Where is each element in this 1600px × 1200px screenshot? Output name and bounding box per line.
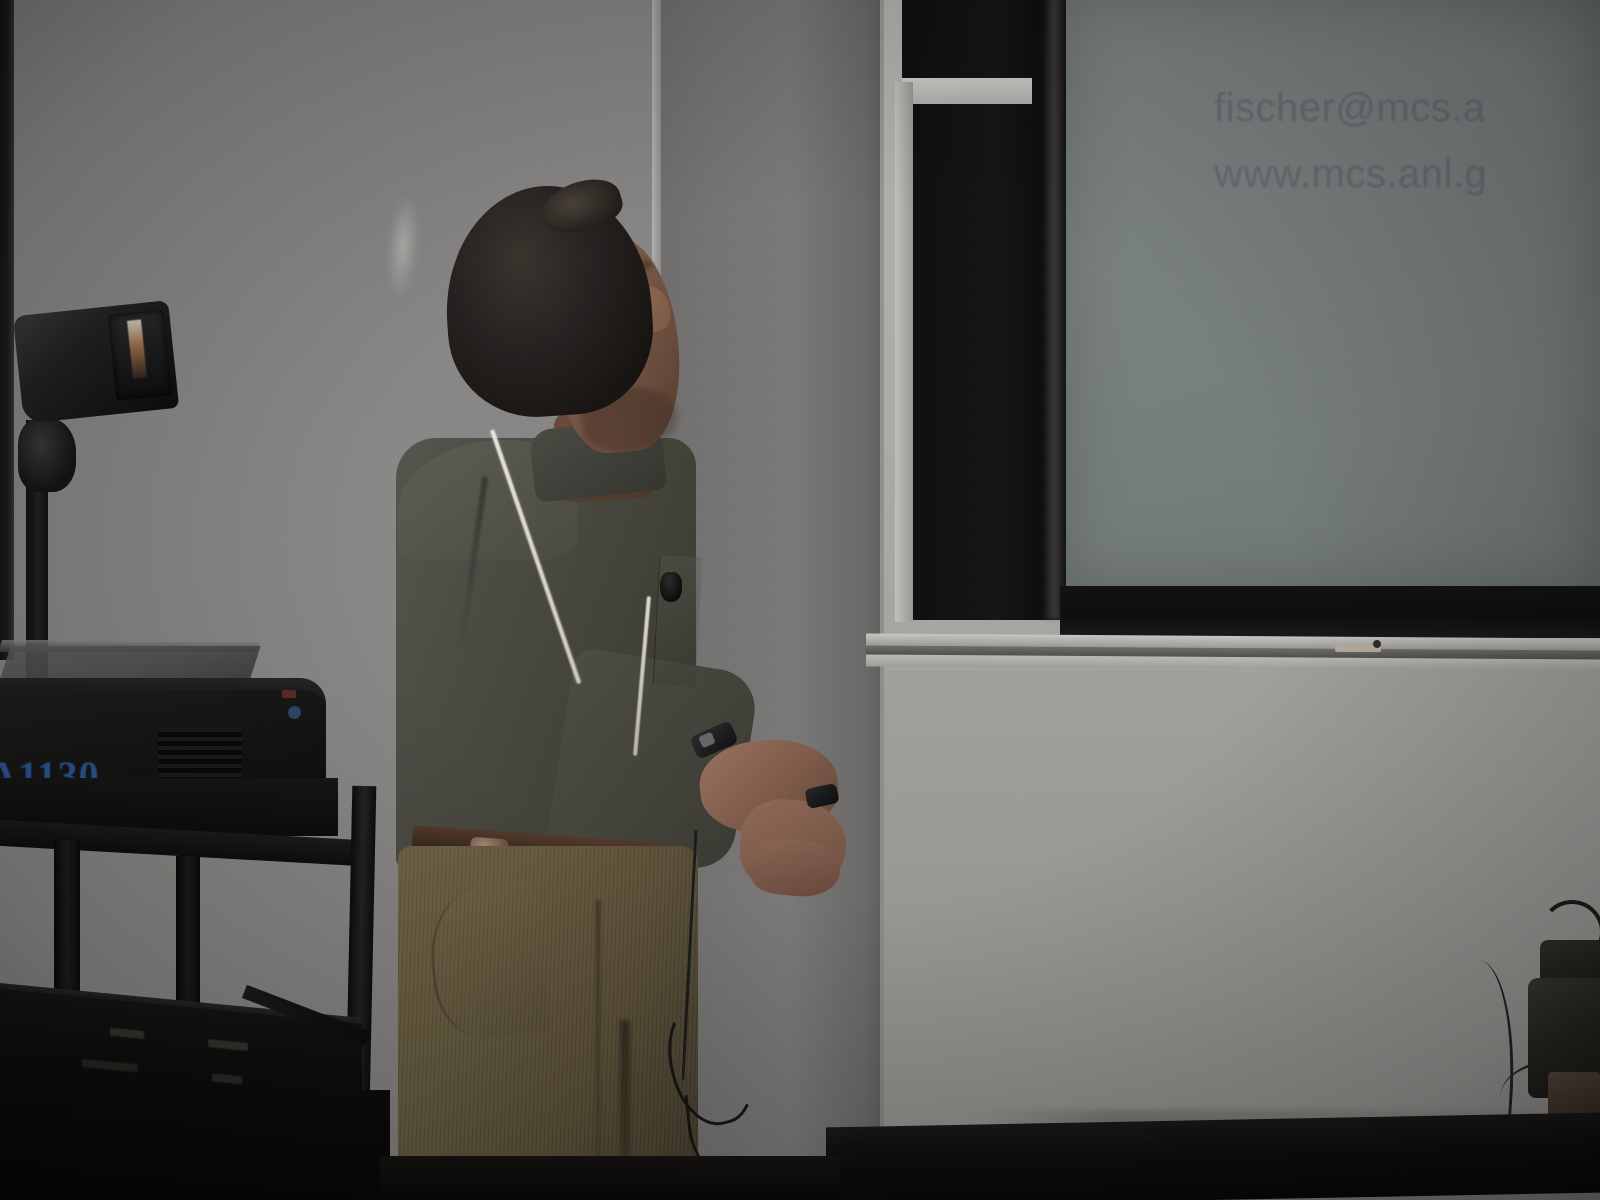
floor-strip-right bbox=[826, 1113, 1600, 1200]
lavalier-microphone-icon bbox=[660, 572, 682, 602]
floor-strip-left bbox=[380, 1156, 840, 1200]
presenter-trouser-crease bbox=[596, 900, 600, 1200]
photo-scene: fischer@mcs.a www.mcs.anl.g A1130 bbox=[0, 0, 1600, 1200]
presenter bbox=[0, 0, 1600, 1200]
